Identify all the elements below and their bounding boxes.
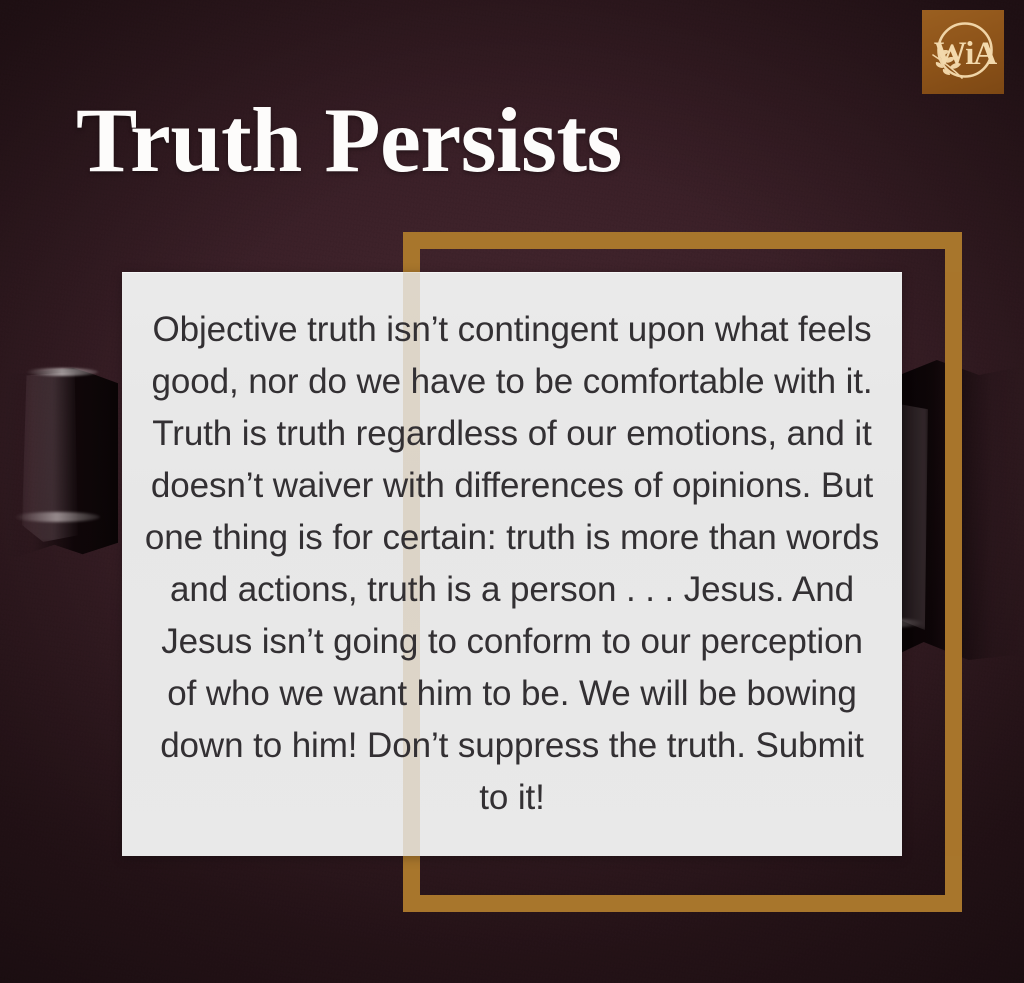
frame-seam-right-showthrough	[945, 272, 962, 856]
social-post-canvas: WiA Truth Persists TRUTH Objective truth…	[0, 0, 1024, 983]
svg-text:WiA: WiA	[934, 36, 998, 72]
quote-body-text: Objective truth isn’t contingent upon wh…	[142, 304, 882, 824]
page-title: Truth Persists	[76, 94, 622, 186]
wia-monogram-icon: WiA	[922, 10, 1004, 94]
quote-card: Objective truth isn’t contingent upon wh…	[122, 272, 902, 856]
brand-logo[interactable]: WiA	[922, 10, 1004, 94]
card-top-hairline	[122, 272, 902, 273]
